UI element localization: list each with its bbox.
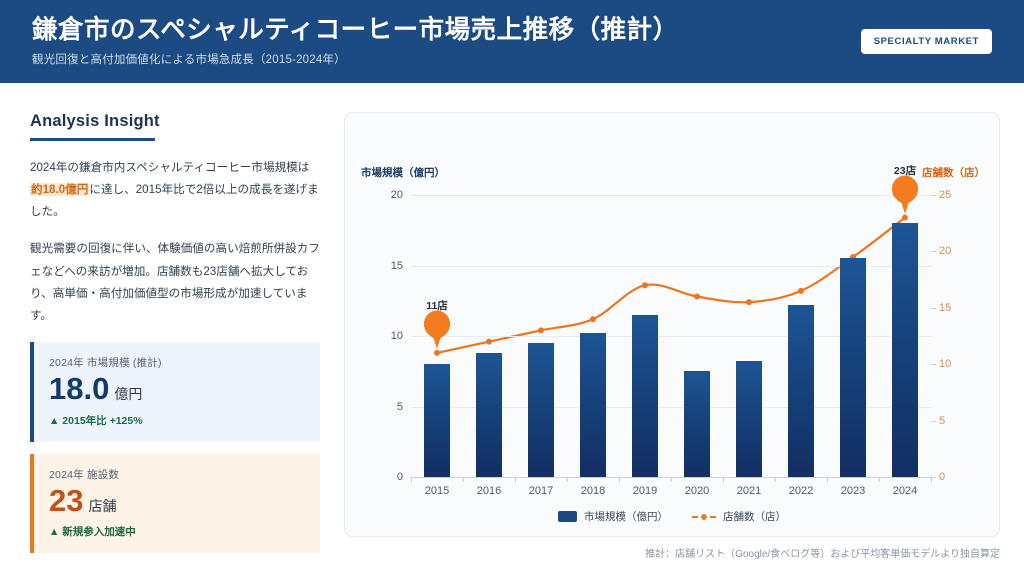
- x-axis-tickmark: [567, 477, 568, 482]
- x-axis-tickmark: [931, 477, 932, 482]
- line-path: [437, 218, 905, 353]
- legend-label: 市場規模（億円）: [584, 509, 668, 524]
- x-axis-tick-2022: 2022: [789, 485, 813, 497]
- line-point-2018[interactable]: [590, 316, 596, 322]
- y-axis-tick-left: 10: [363, 330, 403, 342]
- insight-title: Analysis Insight: [30, 112, 160, 138]
- chart-legend: 市場規模（億円） 店舗数（店）: [345, 509, 999, 524]
- y-axis-title-right: 店舗数（店）: [922, 165, 985, 180]
- status-badge: SPECIALTY MARKET: [861, 29, 992, 54]
- legend-item-market-size: 市場規模（億円）: [558, 509, 668, 524]
- y-axis-tickmark-right: [931, 308, 936, 309]
- y-axis-tick-left: 15: [363, 260, 403, 272]
- stat-delta: ▲ 2015年比 +125%: [49, 413, 304, 428]
- y-axis-tickmark-right: [931, 251, 936, 252]
- page-title: 鎌倉市のスペシャルティコーヒー市場売上推移（推計）: [32, 16, 679, 45]
- bar-2020[interactable]: [684, 371, 710, 477]
- legend-item-store-count: 店舗数（店）: [692, 509, 786, 524]
- plot-area: 0510152005101520252015201620172018201920…: [411, 195, 931, 477]
- chart-footnote: 推計：店舗リスト（Google/食べログ等）および平均客単価モデルより独自算定: [645, 545, 1000, 560]
- stat-label: 2024年 市場規模 (推計): [49, 355, 304, 370]
- x-axis-tickmark: [827, 477, 828, 482]
- x-axis-tick-2019: 2019: [633, 485, 657, 497]
- y-axis-tickmark-right: [931, 421, 936, 422]
- chart-panel: 市場規模（億円） 店舗数（店） 051015200510152025201520…: [344, 112, 1000, 537]
- x-axis-tick-2017: 2017: [529, 485, 553, 497]
- legend-swatch-icon: [558, 511, 577, 522]
- x-axis-tickmark: [411, 477, 412, 482]
- x-axis-tick-2024: 2024: [893, 485, 917, 497]
- line-point-2017[interactable]: [538, 327, 544, 333]
- stat-unit: 億円: [114, 384, 142, 404]
- x-axis-tickmark: [879, 477, 880, 482]
- x-axis-tickmark: [775, 477, 776, 482]
- x-axis-tick-2020: 2020: [685, 485, 709, 497]
- x-axis-tickmark: [515, 477, 516, 482]
- x-axis-tickmark: [619, 477, 620, 482]
- bar-2015[interactable]: [424, 364, 450, 477]
- y-axis-title-left: 市場規模（億円）: [361, 165, 445, 180]
- x-axis-tickmark: [671, 477, 672, 482]
- bar-2023[interactable]: [840, 258, 866, 477]
- stat-card-market-size: 2024年 市場規模 (推計) 18.0 億円 ▲ 2015年比 +125%: [30, 342, 320, 442]
- y-axis-tick-right: 0: [939, 471, 979, 483]
- y-axis-tick-left: 20: [363, 189, 403, 201]
- page-subtitle: 観光回復と高付加価値化による市場急成長（2015-2024年）: [32, 51, 679, 67]
- bar-2021[interactable]: [736, 361, 762, 477]
- line-point-2021[interactable]: [746, 299, 752, 305]
- insight-paragraph-2: 観光需要の回復に伴い、体験価値の高い焙煎所併設カフェなどへの来訪が増加。店舗数も…: [30, 238, 320, 327]
- y-axis-tick-right: 5: [939, 415, 979, 427]
- x-axis-tick-2018: 2018: [581, 485, 605, 497]
- stat-value: 18.0: [49, 373, 109, 406]
- line-point-2016[interactable]: [486, 339, 492, 345]
- bar-2019[interactable]: [632, 315, 658, 477]
- insight-panel: Analysis Insight 2024年の鎌倉市内スペシャルティコーヒー市場…: [30, 112, 320, 565]
- insight-highlight-value: 約18.0億円: [30, 183, 89, 196]
- x-axis-tickmark: [463, 477, 464, 482]
- y-axis-tick-left: 5: [363, 401, 403, 413]
- stat-delta: ▲ 新規参入加速中: [49, 524, 304, 539]
- x-axis-tick-2016: 2016: [477, 485, 501, 497]
- stat-card-store-count: 2024年 施設数 23 店舗 ▲ 新規参入加速中: [30, 454, 320, 554]
- header-text-group: 鎌倉市のスペシャルティコーヒー市場売上推移（推計） 観光回復と高付加価値化による…: [32, 16, 679, 68]
- legend-label: 店舗数（店）: [723, 509, 786, 524]
- insight-p1-part-a: 2024年の鎌倉市内スペシャルティコーヒー市場規模は: [30, 161, 309, 174]
- stat-value-row: 23 店舗: [49, 485, 304, 518]
- x-axis-tickmark: [723, 477, 724, 482]
- y-axis-tickmark-right: [931, 364, 936, 365]
- stat-unit: 店舗: [88, 496, 116, 516]
- bar-2017[interactable]: [528, 343, 554, 477]
- annotation-label-2015: 11店: [426, 298, 448, 313]
- y-axis-tick-right: 15: [939, 302, 979, 314]
- balloon-pin-marker-2024[interactable]: [890, 175, 920, 220]
- y-axis-tick-right: 10: [939, 358, 979, 370]
- x-axis-tick-2023: 2023: [841, 485, 865, 497]
- bar-2018[interactable]: [580, 333, 606, 477]
- gridline: [411, 195, 931, 196]
- y-axis-tick-right: 25: [939, 189, 979, 201]
- annotation-label-2024: 23店: [894, 163, 916, 178]
- line-point-2020[interactable]: [694, 294, 700, 300]
- bar-2024[interactable]: [892, 223, 918, 477]
- stat-label: 2024年 施設数: [49, 467, 304, 482]
- bar-2016[interactable]: [476, 353, 502, 477]
- y-axis-tickmark-right: [931, 195, 936, 196]
- legend-line-icon: [692, 512, 716, 522]
- balloon-pin-marker-2015[interactable]: [422, 310, 452, 355]
- page-header: 鎌倉市のスペシャルティコーヒー市場売上推移（推計） 観光回復と高付加価値化による…: [0, 0, 1024, 83]
- stat-value: 23: [49, 485, 83, 518]
- insight-paragraph-1: 2024年の鎌倉市内スペシャルティコーヒー市場規模は約18.0億円に達し、201…: [30, 157, 320, 224]
- y-axis-tick-left: 0: [363, 471, 403, 483]
- bar-2022[interactable]: [788, 305, 814, 477]
- x-axis-tick-2021: 2021: [737, 485, 761, 497]
- line-point-2022[interactable]: [798, 288, 804, 294]
- insight-title-underline: [30, 138, 155, 141]
- stat-value-row: 18.0 億円: [49, 373, 304, 406]
- x-axis-tick-2015: 2015: [425, 485, 449, 497]
- y-axis-tick-right: 20: [939, 245, 979, 257]
- dashboard-page: 鎌倉市のスペシャルティコーヒー市場売上推移（推計） 観光回復と高付加価値化による…: [0, 0, 1024, 576]
- line-point-2019[interactable]: [642, 282, 648, 288]
